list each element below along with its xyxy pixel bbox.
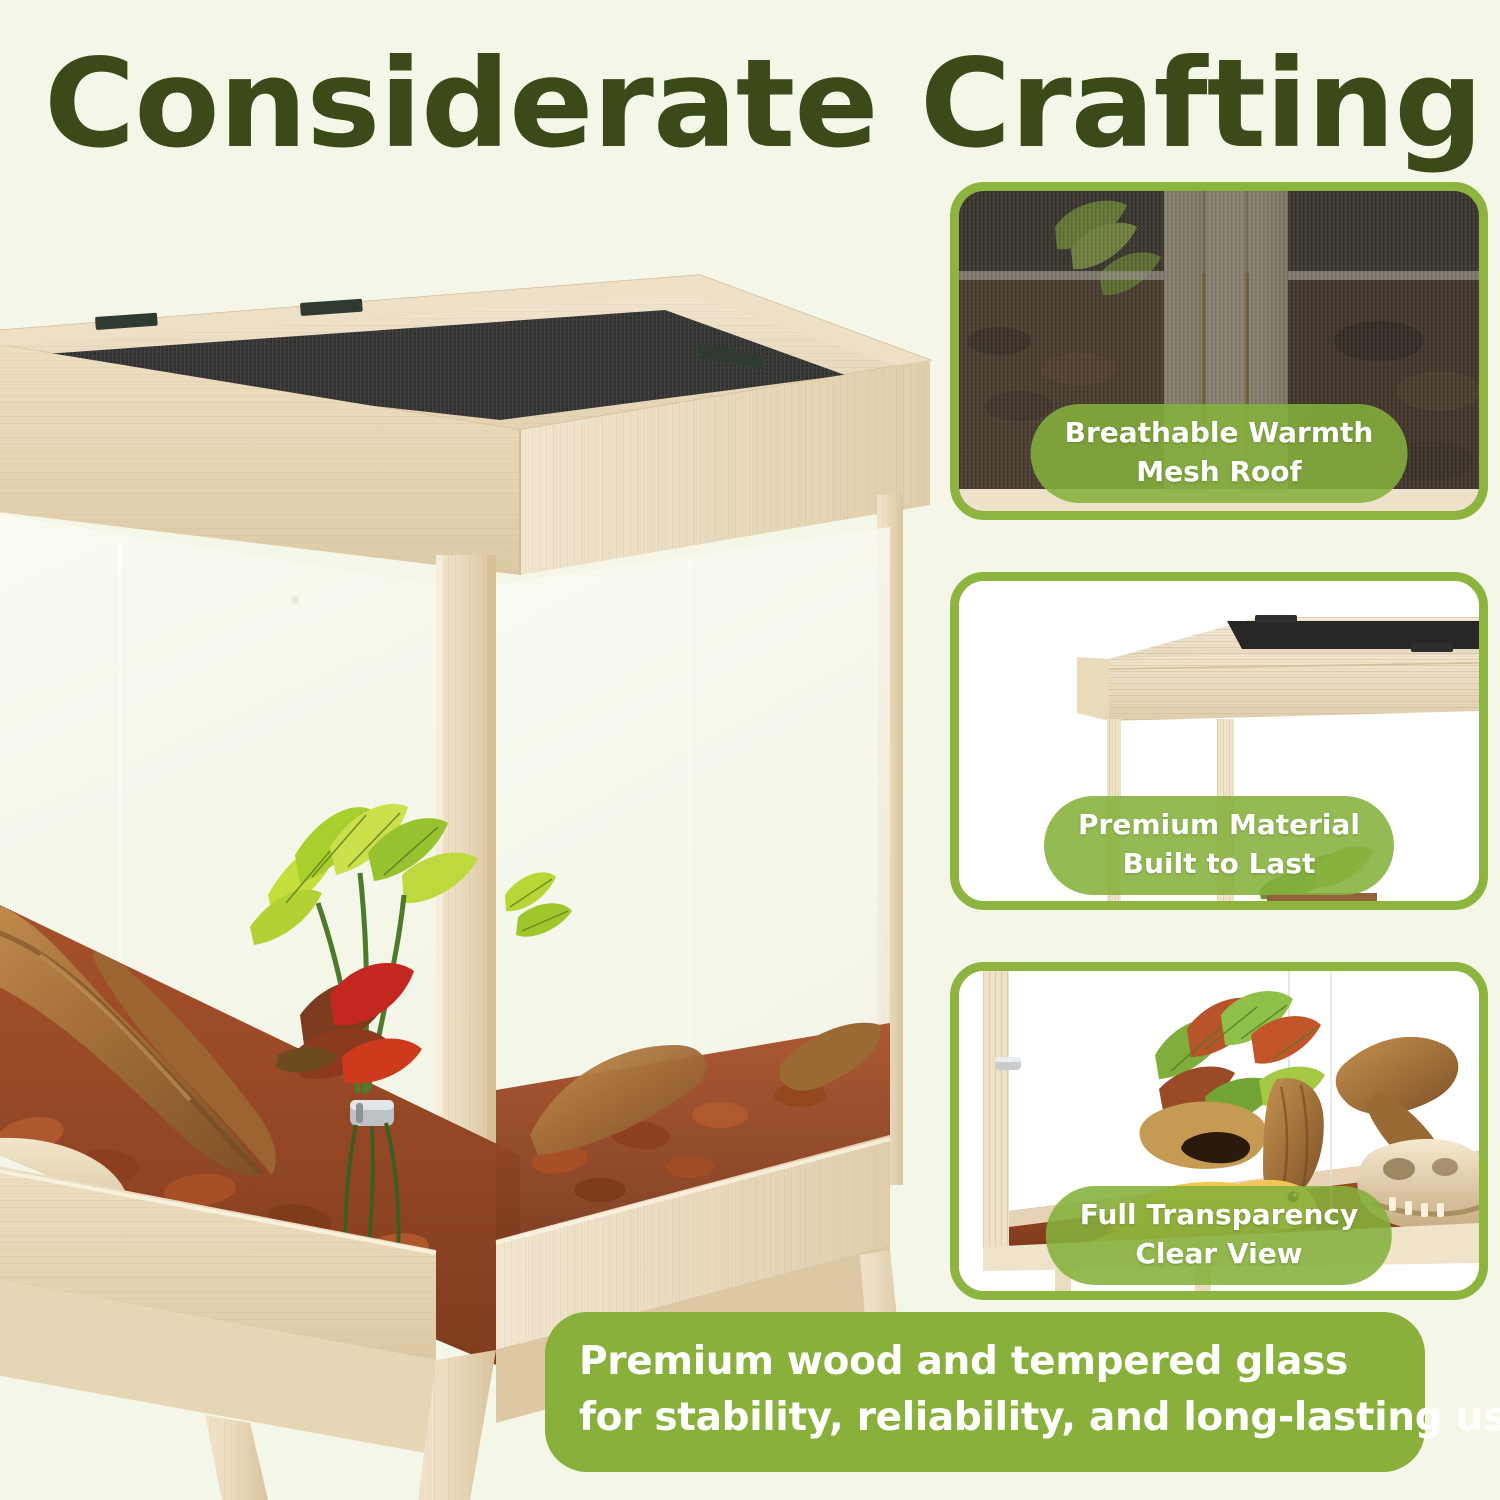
- panel-2-label-line2: Built to Last: [1123, 847, 1316, 880]
- panel-2-label-line1: Premium Material: [1078, 808, 1360, 841]
- panel-1-label: Breathable Warmth Mesh Roof: [1031, 404, 1408, 503]
- plant-mount-clamp: [350, 1100, 394, 1126]
- marketing-image-canvas: Considerate Crafting: [0, 0, 1500, 1500]
- banner-line-2: for stability, reliability, and long-las…: [579, 1390, 1391, 1446]
- panel-2-label: Premium Material Built to Last: [1044, 796, 1394, 895]
- page-title: Considerate Crafting: [44, 44, 1500, 164]
- feature-panel-full-transparency[interactable]: Full Transparency Clear View: [950, 962, 1488, 1300]
- feature-panel-premium-material[interactable]: Premium Material Built to Last: [950, 572, 1488, 910]
- bottom-caption-banner: Premium wood and tempered glass for stab…: [545, 1312, 1425, 1472]
- feature-panel-mesh-roof[interactable]: Breathable Warmth Mesh Roof: [950, 182, 1488, 520]
- banner-line-1: Premium wood and tempered glass: [579, 1334, 1391, 1390]
- panel-1-label-line1: Breathable Warmth: [1065, 416, 1374, 449]
- panel-3-label-line2: Clear View: [1135, 1237, 1302, 1270]
- panel-3-label-line1: Full Transparency: [1080, 1198, 1358, 1231]
- panel-1-label-line2: Mesh Roof: [1136, 455, 1301, 488]
- panel-3-label: Full Transparency Clear View: [1046, 1186, 1392, 1285]
